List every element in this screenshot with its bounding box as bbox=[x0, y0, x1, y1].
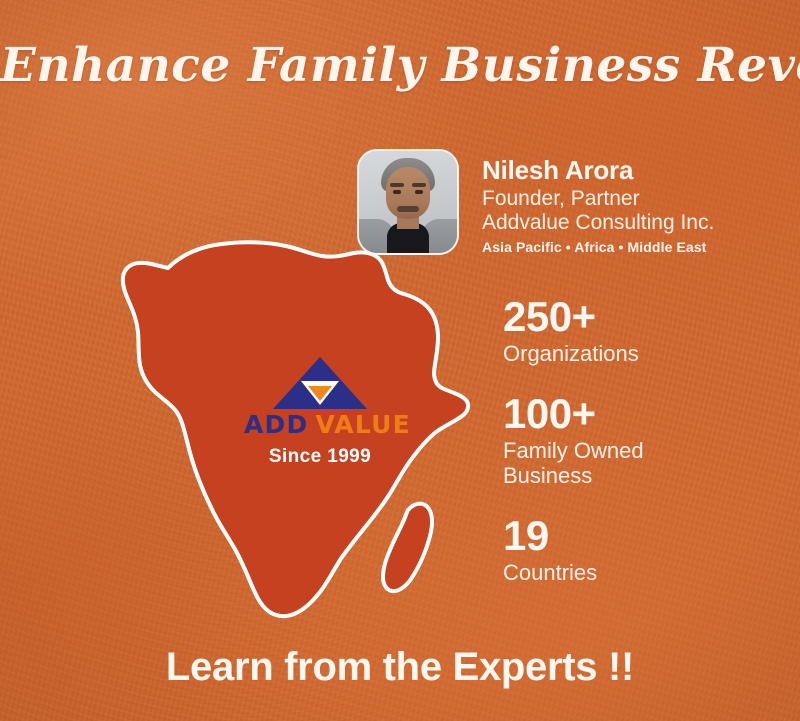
stat-item: 250+ Organizations bbox=[503, 296, 753, 367]
presenter-company: Addvalue Consulting Inc. bbox=[482, 211, 714, 235]
addvalue-logo: ADDVALUE Since 1999 bbox=[244, 355, 396, 468]
stat-number: 100+ bbox=[503, 393, 753, 435]
stat-label: Organizations bbox=[503, 341, 753, 367]
avatar-eye-left bbox=[393, 190, 401, 194]
logo-tagline: Since 1999 bbox=[244, 446, 396, 468]
stat-number: 250+ bbox=[503, 296, 753, 338]
logo-word-add: ADD bbox=[244, 410, 308, 439]
stat-item: 100+ Family OwnedBusiness bbox=[503, 393, 753, 489]
stat-label: Family OwnedBusiness bbox=[503, 438, 753, 489]
footer-cta: Learn from the Experts !! bbox=[0, 645, 800, 690]
poster-canvas: Enhance Family Business Revenue ADDVALUE… bbox=[0, 0, 800, 721]
stat-number: 19 bbox=[503, 515, 753, 557]
logo-word-value: VALUE bbox=[315, 410, 410, 439]
avatar-eyebrow-left bbox=[390, 183, 404, 187]
stat-item: 19 Countries bbox=[503, 515, 753, 586]
logo-wordmark: ADDVALUE bbox=[244, 412, 396, 437]
stat-label: Countries bbox=[503, 560, 753, 586]
madagascar-path bbox=[383, 504, 432, 591]
presenter-details: Nilesh Arora Founder, Partner Addvalue C… bbox=[482, 149, 714, 256]
page-title: Enhance Family Business Revenue bbox=[0, 38, 800, 93]
avatar-mustache bbox=[397, 206, 419, 212]
presenter-name: Nilesh Arora bbox=[482, 157, 714, 185]
avatar-eyebrow-right bbox=[412, 183, 426, 187]
presenter-role: Founder, Partner bbox=[482, 187, 714, 211]
presenter-regions: Asia Pacific • Africa • Middle East bbox=[482, 239, 714, 256]
presenter-block: Nilesh Arora Founder, Partner Addvalue C… bbox=[357, 149, 714, 256]
avatar-eye-right bbox=[415, 190, 423, 194]
avatar bbox=[357, 149, 459, 255]
stats-list: 250+ Organizations 100+ Family OwnedBusi… bbox=[503, 296, 753, 611]
logo-triangle-icon bbox=[271, 355, 369, 411]
